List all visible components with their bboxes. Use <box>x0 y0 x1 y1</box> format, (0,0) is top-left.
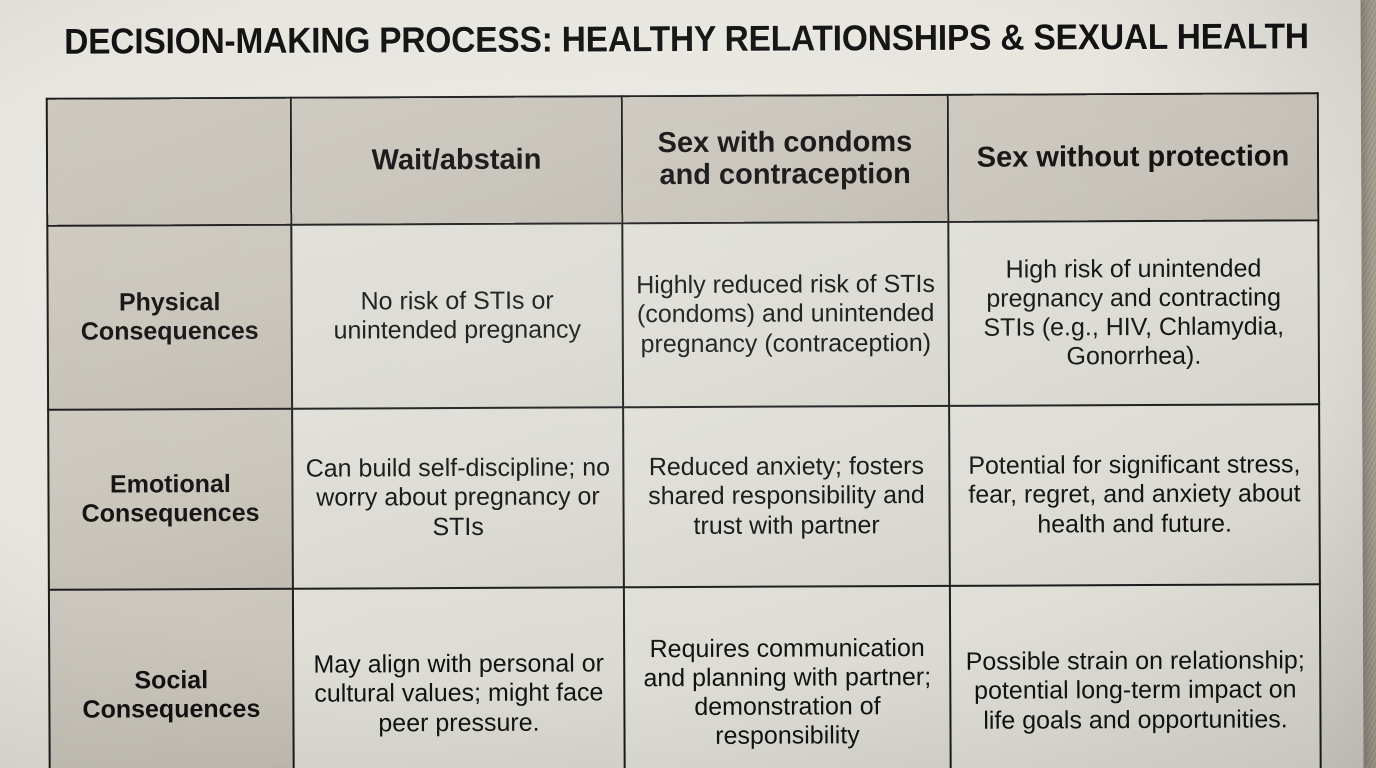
photograph-scene: DECISION-MAKING PROCESS: HEALTHY RELATIO… <box>0 0 1376 768</box>
page-title: DECISION-MAKING PROCESS: HEALTHY RELATIO… <box>47 15 1327 63</box>
cell-physical-wait-abstain: No risk of STIs or unintended pregnancy <box>291 223 623 408</box>
cell-physical-with-protection: Highly reduced risk of STIs (condoms) an… <box>622 222 949 407</box>
table-row: Emotional Consequences Can build self-di… <box>48 404 1320 590</box>
page-content: DECISION-MAKING PROCESS: HEALTHY RELATIO… <box>0 0 1376 768</box>
table-row: Physical Consequences No risk of STIs or… <box>47 220 1319 410</box>
cell-social-without-protection: Possible strain on relationship; potenti… <box>950 584 1321 768</box>
cell-emotional-with-protection: Reduced anxiety; fosters shared responsi… <box>623 406 950 587</box>
table-header-row: Wait/abstain Sex with condoms and contra… <box>47 93 1319 226</box>
table-corner-cell <box>47 98 292 226</box>
cell-social-wait-abstain: May align with personal or cultural valu… <box>293 587 625 768</box>
row-header-social-consequences: Social Consequences <box>49 589 294 768</box>
cell-emotional-wait-abstain: Can build self-discipline; no worry abou… <box>292 407 624 588</box>
cell-social-with-protection: Requires communication and planning with… <box>624 586 951 768</box>
row-header-physical-consequences: Physical Consequences <box>47 225 292 410</box>
cell-emotional-without-protection: Potential for significant stress, fear, … <box>949 404 1320 586</box>
decision-matrix-table: Wait/abstain Sex with condoms and contra… <box>46 92 1322 768</box>
table-row: Social Consequences May align with perso… <box>49 584 1321 768</box>
row-header-emotional-consequences: Emotional Consequences <box>48 409 293 590</box>
cell-physical-without-protection: High risk of unintended pregnancy and co… <box>948 220 1319 406</box>
column-header-sex-with-protection: Sex with condoms and contraception <box>622 95 949 223</box>
column-header-sex-without-protection: Sex without protection <box>948 93 1319 222</box>
column-header-wait-abstain: Wait/abstain <box>291 96 623 224</box>
